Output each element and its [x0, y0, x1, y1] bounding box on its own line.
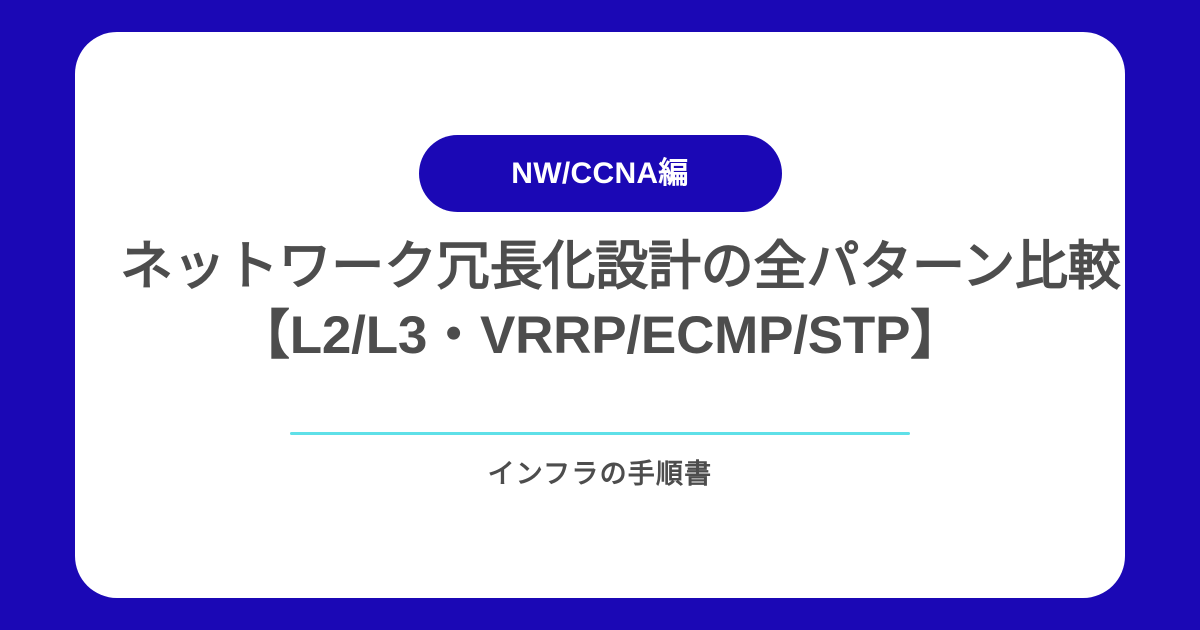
page-title: ネットワーク冗長化設計の全パターン比較 【L2/L3・VRRP/ECMP/STP…	[120, 233, 1080, 371]
site-name: インフラの手順書	[488, 461, 713, 488]
title-divider	[290, 432, 910, 435]
page-title-line-2: 【L2/L3・VRRP/ECMP/STP】	[120, 302, 1080, 371]
category-badge: NW/CCNA編	[419, 135, 782, 212]
content-card: NW/CCNA編 ネットワーク冗長化設計の全パターン比較 【L2/L3・VRRP…	[75, 32, 1125, 598]
ogp-canvas: NW/CCNA編 ネットワーク冗長化設計の全パターン比較 【L2/L3・VRRP…	[0, 0, 1200, 630]
page-title-line-1: ネットワーク冗長化設計の全パターン比較	[120, 233, 1080, 302]
category-badge-label: NW/CCNA編	[511, 159, 688, 189]
